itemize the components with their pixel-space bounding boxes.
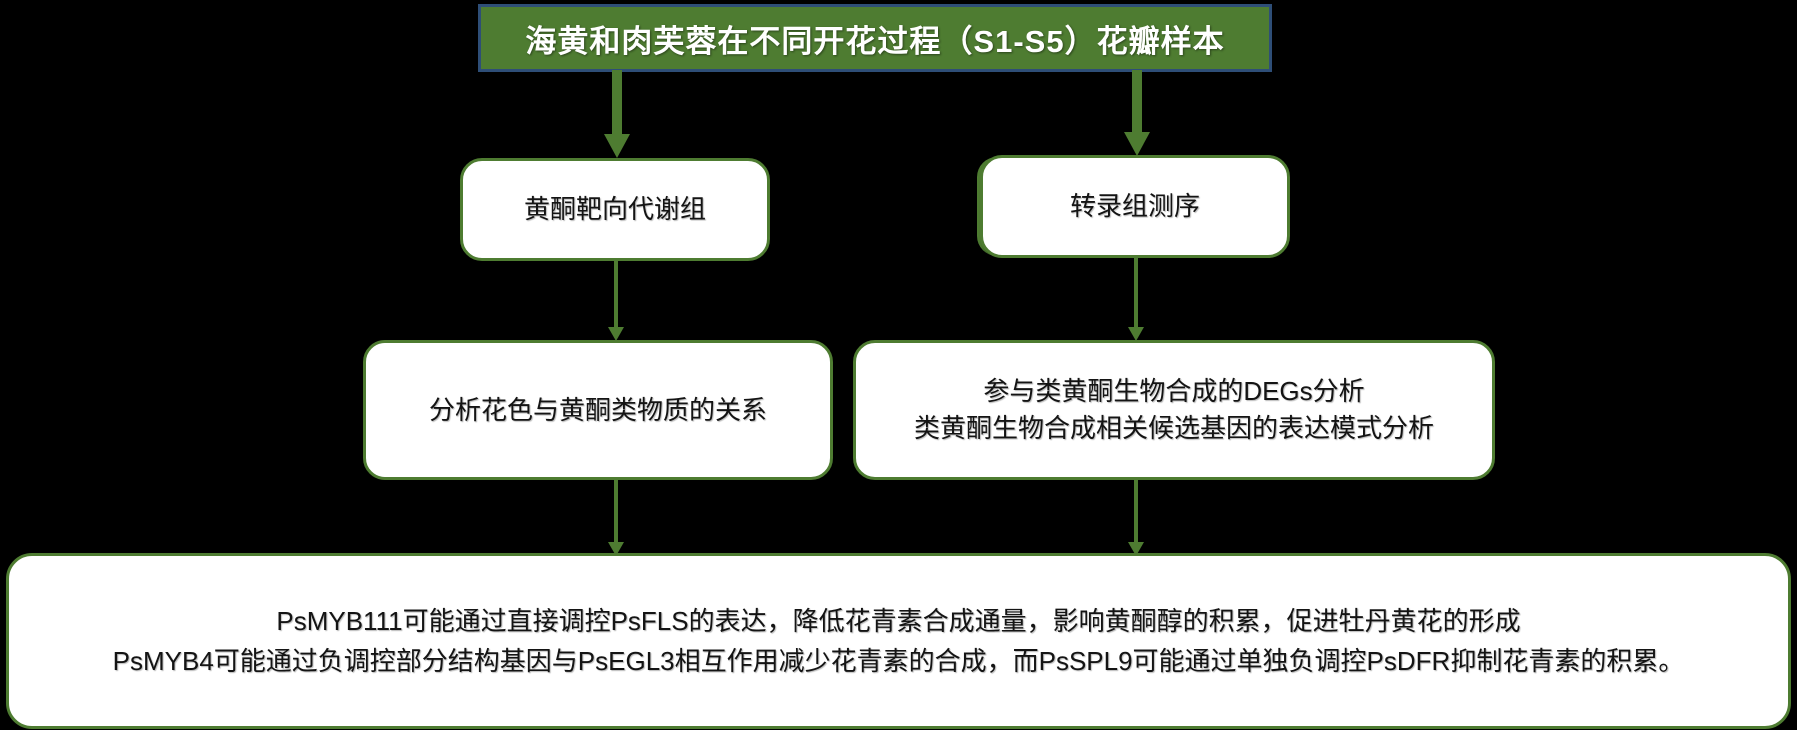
- process-box-flower-color-flavonoid-relation-label: 分析花色与黄酮类物质的关系: [429, 392, 767, 429]
- process-box-flavonoid-metabolome[interactable]: 黄酮靶向代谢组: [460, 158, 770, 261]
- conclusion-box-label: PsMYB111可能通过直接调控PsFLS的表达，降低花青素合成通量，影响黄酮醇…: [9, 601, 1788, 682]
- process-box-transcriptome-sequencing-label: 转录组测序: [1070, 188, 1200, 225]
- arrow-degs-analysis-to-conclusion: [1125, 478, 1147, 558]
- arrow-title-to-transcriptome: [1122, 70, 1152, 160]
- arrow-transcriptome-to-degs-analysis: [1125, 256, 1147, 343]
- process-box-transcriptome-sequencing[interactable]: 转录组测序: [980, 155, 1290, 258]
- process-box-degs-expression-analysis[interactable]: 参与类黄酮生物合成的DEGs分析 类黄酮生物合成相关候选基因的表达模式分析: [853, 340, 1495, 480]
- process-box-flower-color-flavonoid-relation[interactable]: 分析花色与黄酮类物质的关系: [363, 340, 833, 480]
- flowchart-canvas: 海黄和肉芙蓉在不同开花过程（S1-S5）花瓣样本 黄酮靶向代谢组 转录组测序 分…: [0, 0, 1797, 730]
- arrow-metabolome-to-color-analysis: [605, 259, 627, 343]
- title-box-label: 海黄和肉芙蓉在不同开花过程（S1-S5）花瓣样本: [525, 16, 1224, 61]
- process-box-flavonoid-metabolome-label: 黄酮靶向代谢组: [524, 191, 706, 228]
- title-box[interactable]: 海黄和肉芙蓉在不同开花过程（S1-S5）花瓣样本: [478, 4, 1272, 72]
- arrow-title-to-metabolome: [602, 70, 632, 162]
- arrow-color-analysis-to-conclusion: [605, 478, 627, 558]
- conclusion-box[interactable]: PsMYB111可能通过直接调控PsFLS的表达，降低花青素合成通量，影响黄酮醇…: [6, 553, 1791, 729]
- process-box-degs-expression-analysis-label: 参与类黄酮生物合成的DEGs分析 类黄酮生物合成相关候选基因的表达模式分析: [914, 373, 1434, 447]
